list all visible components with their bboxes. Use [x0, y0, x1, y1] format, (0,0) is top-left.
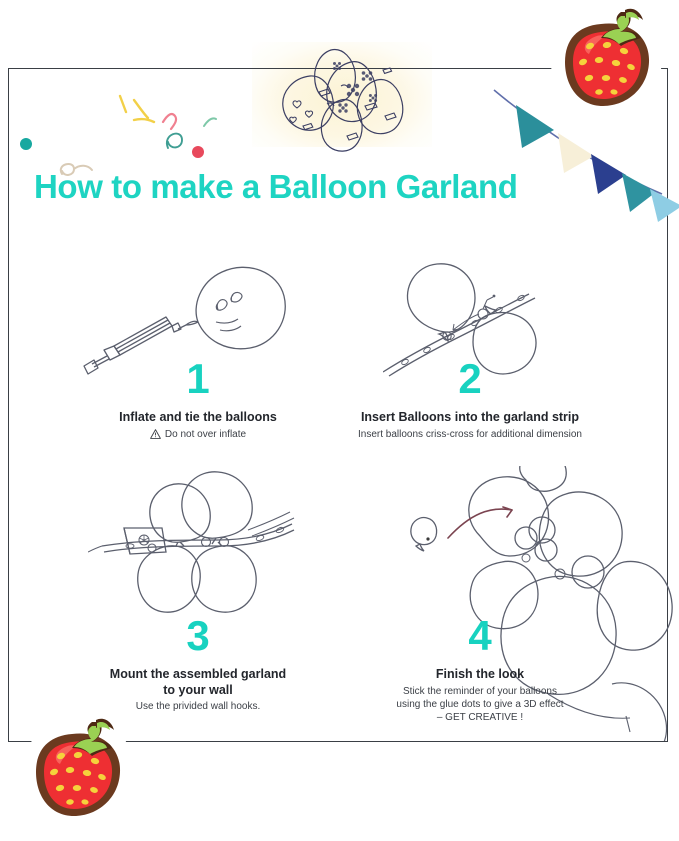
step-2-number: 2: [325, 358, 615, 400]
step-4-number: 4: [340, 615, 620, 657]
page-title: How to make a Balloon Garland: [34, 168, 634, 206]
step-1-warning-text: Do not over inflate: [165, 428, 246, 441]
bunting-flag-5: [650, 189, 679, 222]
bunting-flag-2: [558, 133, 594, 173]
step-4-subtitle-line1: Stick the reminder of your balloons: [340, 685, 620, 698]
step-3-block: 3 Mount the assembled garland to your wa…: [58, 615, 338, 713]
step-4-subtitle-line2: using the glue dots to give a 3D effect: [340, 698, 620, 711]
step-1-number: 1: [58, 358, 338, 400]
step-4-title: Finish the look: [340, 667, 620, 683]
warning-triangle-icon: [150, 429, 161, 439]
step-1-title: Inflate and tie the balloons: [58, 410, 338, 426]
step-3-title-line1: Mount the assembled garland: [58, 667, 338, 683]
step-3-title-line2: to your wall: [58, 683, 338, 699]
step-4-subtitle-line3: – GET CREATIVE !: [340, 711, 620, 724]
step-2-block: 2 Insert Balloons into the garland strip…: [325, 358, 615, 441]
step-3-number: 3: [58, 615, 338, 657]
step-1-warning: Do not over inflate: [58, 428, 338, 441]
step-4-block: 4 Finish the look Stick the reminder of …: [340, 615, 620, 724]
step-2-title: Insert Balloons into the garland strip: [325, 410, 615, 426]
step-1-block: 1 Inflate and tie the balloons Do not ov…: [58, 358, 338, 441]
poster-canvas: How to make a Balloon Garland: [0, 0, 679, 841]
strawberry-sticker-bottom-left-icon: [14, 712, 140, 832]
strawberry-sticker-top-right-icon: [543, 2, 669, 122]
step-3-subtitle: Use the privided wall hooks.: [58, 700, 338, 713]
step-2-subtitle: Insert balloons criss-cross for addition…: [325, 428, 615, 441]
